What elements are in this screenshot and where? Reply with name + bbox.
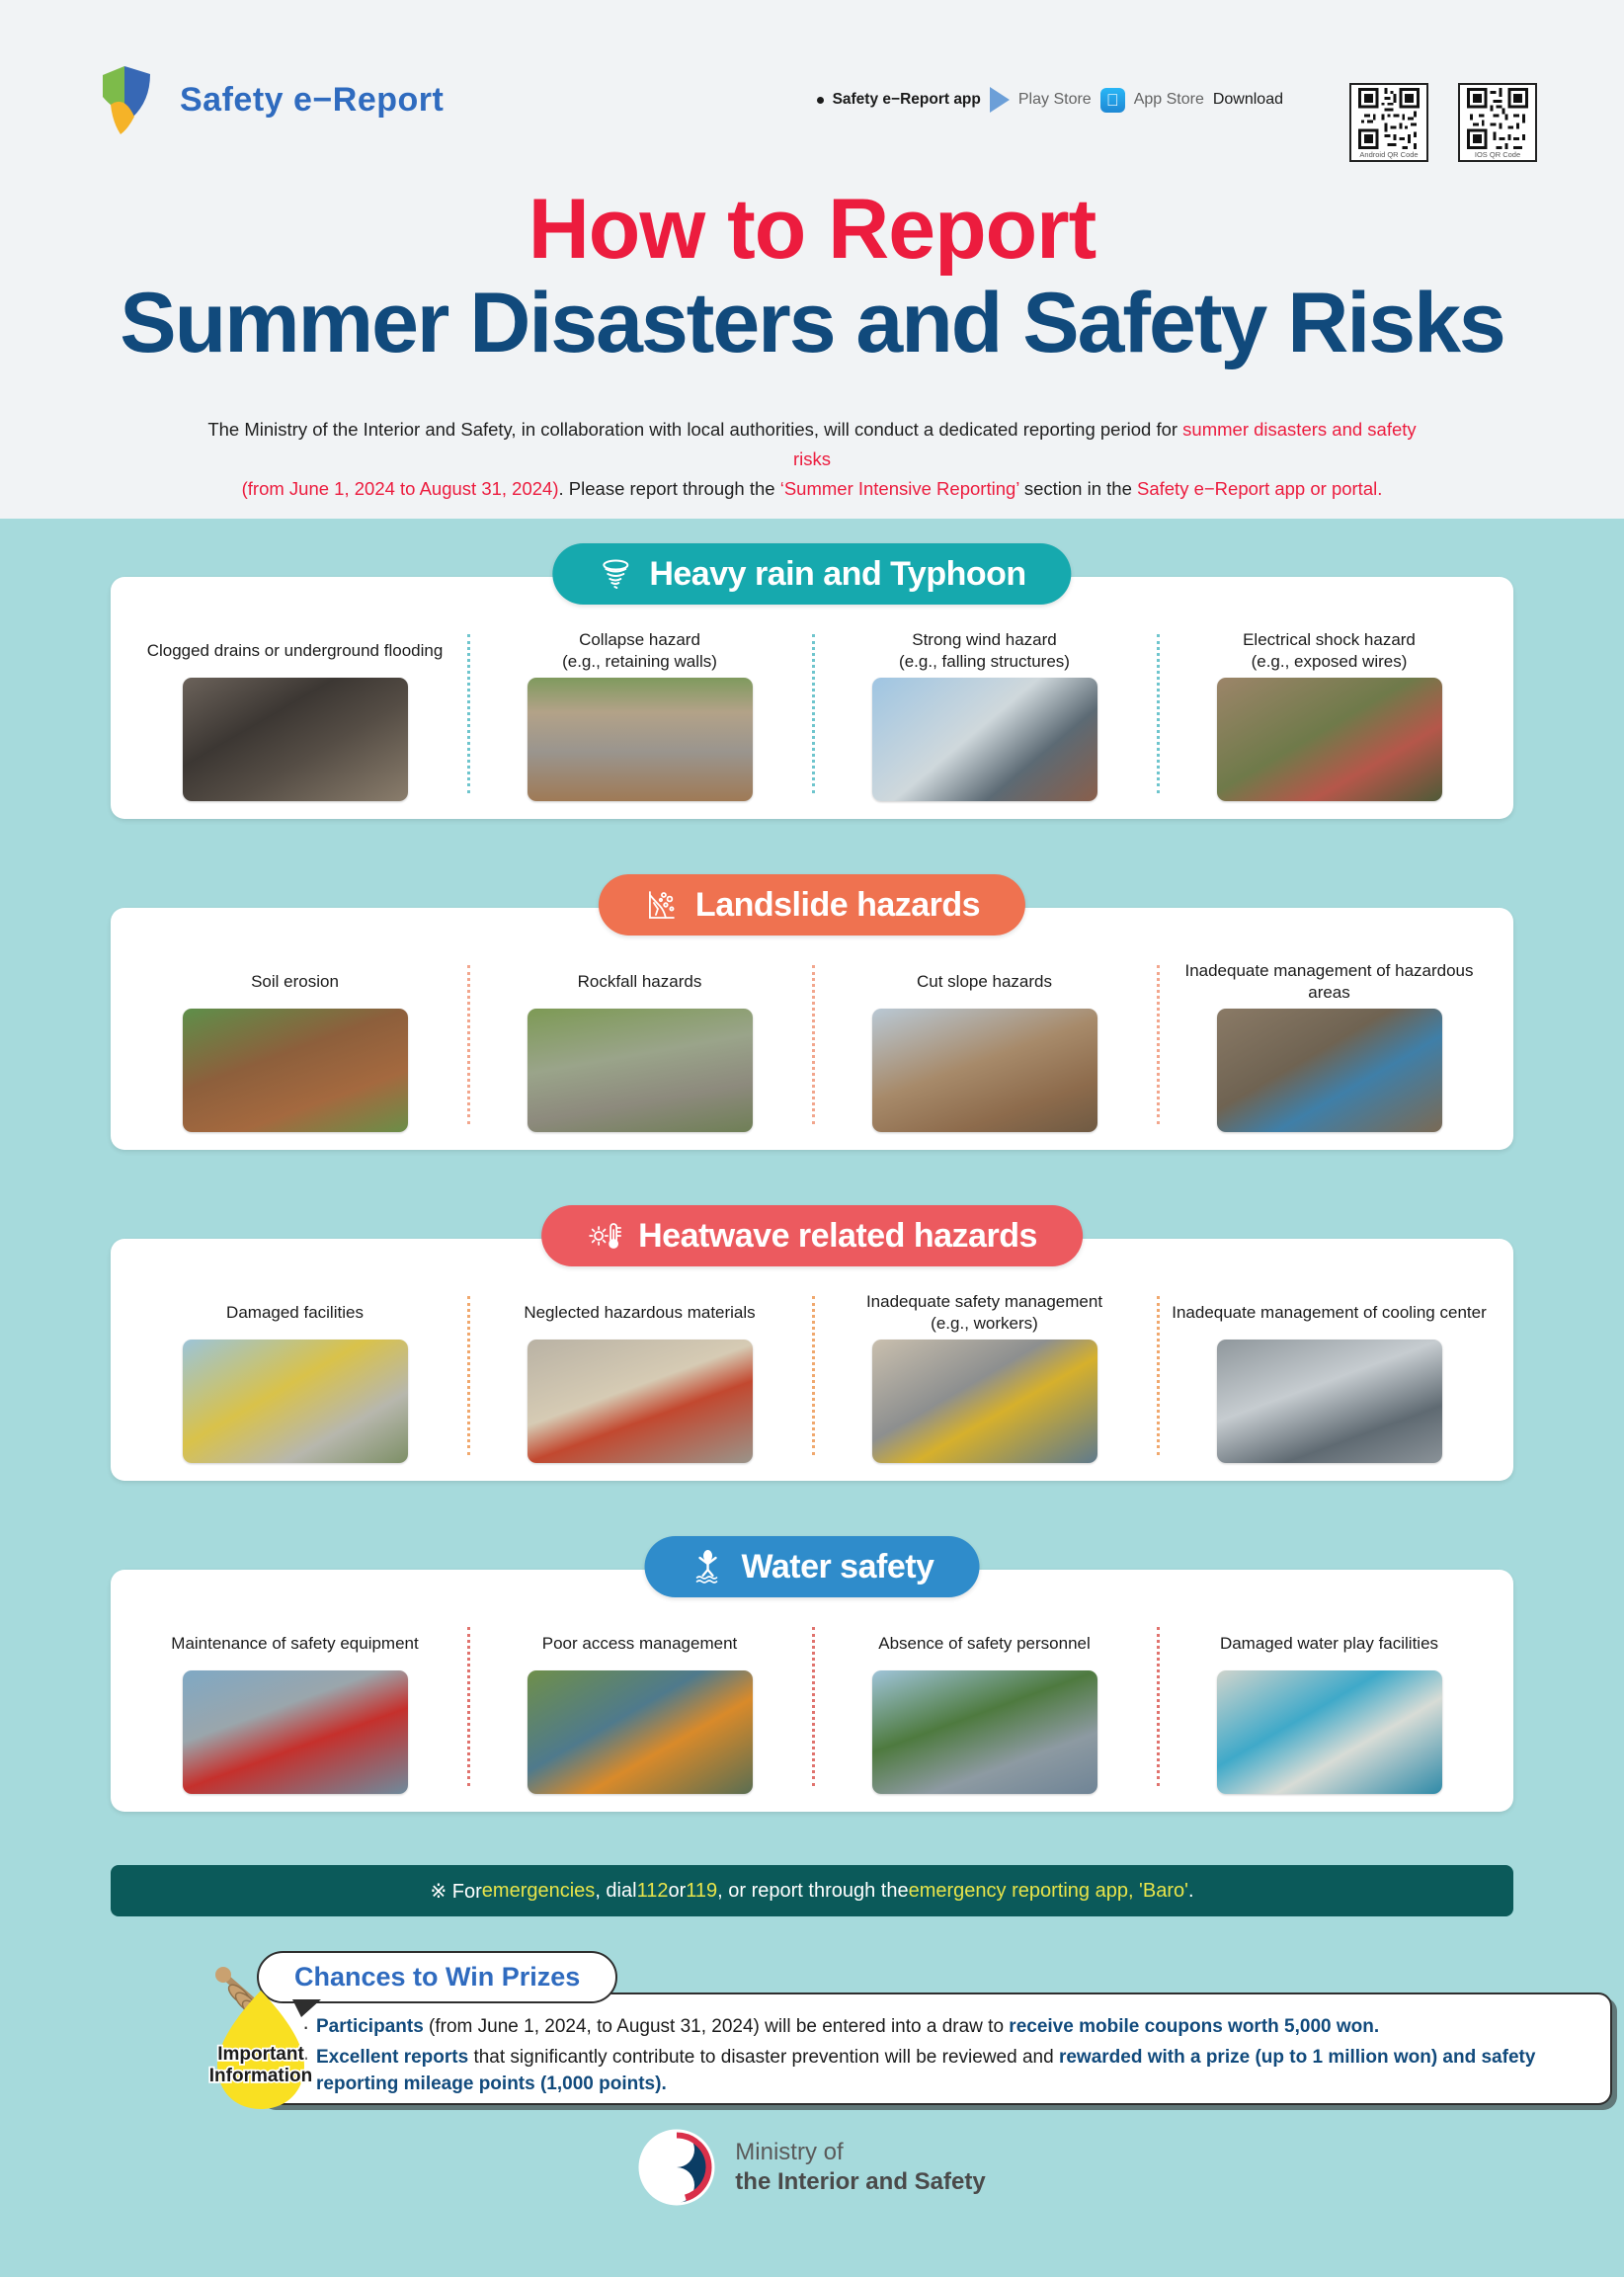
- prize-item: Excellent reports that significantly con…: [300, 2045, 1586, 2098]
- hazard-label: Poor access management: [532, 1621, 748, 1667]
- badge-line-1: Important: [217, 2044, 304, 2065]
- poster-root: Safety e−Report Safety e−Report app Play…: [0, 0, 1624, 2277]
- section-item-grid: Damaged facilities Neglected hazardous m…: [111, 1239, 1513, 1481]
- prizes-box: Participants (from June 1, 2024, to Augu…: [257, 1992, 1612, 2105]
- prizes-heading: Chances to Win Prizes: [294, 1962, 580, 1992]
- empty-lifeguard-post-photo: [872, 1670, 1097, 1794]
- section-card: Damaged facilities Neglected hazardous m…: [111, 1239, 1513, 1481]
- intro-highlight-3: ‘Summer Intensive Reporting’: [780, 478, 1019, 499]
- hazard-label: Inadequate safety management(e.g., worke…: [856, 1290, 1112, 1336]
- hazard-label: Inadequate management of cooling center: [1162, 1290, 1497, 1336]
- emergency-app-baro: emergency reporting app, 'Baro': [909, 1880, 1188, 1903]
- ios-qr-glyph: [1462, 88, 1533, 149]
- ios-qr-caption: IOS QR Code: [1475, 150, 1520, 159]
- body-background: Clogged drains or underground flooding C…: [0, 519, 1624, 2277]
- qr-code-group: Android QR Code: [1349, 83, 1537, 162]
- prize-bold-1: Participants: [316, 2016, 424, 2037]
- hazard-item[interactable]: Collapse hazard(e.g., retaining walls): [467, 628, 812, 801]
- ios-qr-code[interactable]: IOS QR Code: [1458, 83, 1537, 162]
- landslide-icon: [644, 887, 680, 923]
- hazard-label: Cut slope hazards: [907, 959, 1062, 1005]
- life-ring-box-photo: [183, 1670, 408, 1794]
- header: Safety e−Report Safety e−Report app Play…: [0, 0, 1624, 519]
- prize-bold-2: receive mobile coupons worth 5,000 won.: [1009, 2016, 1379, 2037]
- play-store-label[interactable]: Play Store: [1018, 91, 1092, 109]
- hazard-item[interactable]: Cut slope hazards: [812, 959, 1157, 1132]
- hazard-label: Clogged drains or underground flooding: [137, 628, 453, 674]
- hazard-label: Neglected hazardous materials: [514, 1290, 765, 1336]
- section-card: Maintenance of safety equipment Poor acc…: [111, 1570, 1513, 1812]
- android-qr-glyph: [1353, 88, 1424, 149]
- sun-thermometer-icon: [587, 1218, 622, 1254]
- section-title: Water safety: [742, 1548, 934, 1586]
- wind-damaged-roof-photo: [872, 678, 1097, 801]
- app-store-label[interactable]: App Store: [1134, 91, 1204, 109]
- cut-slope-photo: [872, 1009, 1097, 1132]
- intro-highlight-4: Safety e−Report app or portal.: [1137, 478, 1382, 499]
- hazard-item[interactable]: Inadequate safety management(e.g., worke…: [812, 1290, 1157, 1463]
- hazard-label: Soil erosion: [241, 959, 349, 1005]
- hazard-label: Damaged water play facilities: [1210, 1621, 1448, 1667]
- prize-text-1: (from June 1, 2024, to August 31, 2024) …: [424, 2016, 1010, 2037]
- hazard-item[interactable]: Electrical shock hazard(e.g., exposed wi…: [1157, 628, 1502, 801]
- section-pill-water-safety[interactable]: Water safety: [645, 1536, 980, 1597]
- exposed-wires-photo: [1217, 678, 1442, 801]
- section-title: Heatwave related hazards: [638, 1217, 1037, 1256]
- section-title: Heavy rain and Typhoon: [649, 555, 1025, 594]
- play-store-icon[interactable]: [990, 87, 1010, 113]
- intro-paragraph: The Ministry of the Interior and Safety,…: [188, 415, 1436, 504]
- section-item-grid: Soil erosion Rockfall hazards Cut slope …: [111, 908, 1513, 1150]
- hazard-label: Absence of safety personnel: [868, 1621, 1100, 1667]
- korea-government-logo-icon: [638, 2129, 715, 2206]
- hazard-label: Inadequate management of hazardous areas: [1157, 959, 1502, 1005]
- prize-text-2: that significantly contribute to disaste…: [468, 2047, 1059, 2068]
- worksite-thermometer-photo: [872, 1340, 1097, 1463]
- ministry-line-1: Ministry of: [735, 2139, 843, 2165]
- hazard-item[interactable]: Absence of safety personnel: [812, 1621, 1157, 1794]
- river-access-warning-photo: [528, 1670, 753, 1794]
- hazard-label: Maintenance of safety equipment: [161, 1621, 428, 1667]
- page-title-line1: How to Report: [0, 181, 1624, 279]
- emergency-number-119: 119: [686, 1880, 717, 1903]
- app-download-row: Safety e−Report app Play Store  App Sto…: [817, 87, 1283, 113]
- android-qr-code[interactable]: Android QR Code: [1349, 83, 1428, 162]
- neglected-chemical-containers-photo: [528, 1340, 753, 1463]
- hazard-item[interactable]: Neglected hazardous materials: [467, 1290, 812, 1463]
- emergency-number-112: 112: [637, 1880, 669, 1903]
- hazard-item[interactable]: Inadequate management of cooling center: [1157, 1290, 1502, 1463]
- intro-part-3: section in the: [1019, 478, 1137, 499]
- rockfall-photo: [528, 1009, 753, 1132]
- hazard-item[interactable]: Damaged facilities: [122, 1290, 467, 1463]
- hazard-item[interactable]: Inadequate management of hazardous areas: [1157, 959, 1502, 1132]
- hazard-item[interactable]: Strong wind hazard(e.g., falling structu…: [812, 628, 1157, 801]
- download-label: Download: [1213, 91, 1283, 109]
- emergency-text-4: .: [1188, 1880, 1194, 1903]
- hazard-item[interactable]: Damaged water play facilities: [1157, 1621, 1502, 1794]
- section-pill-landslide[interactable]: Landslide hazards: [599, 874, 1025, 935]
- hazard-label: Electrical shock hazard(e.g., exposed wi…: [1233, 628, 1425, 674]
- safety-shield-icon: [95, 61, 164, 138]
- cooling-center-photo: [1217, 1340, 1442, 1463]
- hazard-item[interactable]: Poor access management: [467, 1621, 812, 1794]
- section-item-grid: Clogged drains or underground flooding C…: [111, 577, 1513, 819]
- emergency-mark: ※ For: [430, 1879, 481, 1904]
- emergency-word-emergencies: emergencies: [482, 1880, 596, 1903]
- section-pill-heatwave[interactable]: Heatwave related hazards: [541, 1205, 1083, 1266]
- hazard-item[interactable]: Soil erosion: [122, 959, 467, 1132]
- badge-line-2: Information: [209, 2066, 313, 2086]
- clogged-drain-photo: [183, 678, 408, 801]
- section-item-grid: Maintenance of safety equipment Poor acc…: [111, 1570, 1513, 1812]
- hazardous-area-tarp-photo: [1217, 1009, 1442, 1132]
- ministry-footer: Ministry of the Interior and Safety: [0, 2129, 1624, 2206]
- emergency-text-3: , or report through the: [717, 1880, 908, 1903]
- collapsed-retaining-wall-photo: [528, 678, 753, 801]
- section-pill-heavy-rain[interactable]: Heavy rain and Typhoon: [552, 543, 1071, 605]
- intro-part-2: . Please report through the: [559, 478, 780, 499]
- prize-bold-3: Excellent reports: [316, 2047, 468, 2068]
- emergency-banner: ※ For emergencies, dial 112 or 119, or r…: [111, 1865, 1513, 1916]
- app-store-icon[interactable]: : [1100, 88, 1125, 113]
- section-title: Landslide hazards: [695, 886, 980, 925]
- prizes-section: Participants (from June 1, 2024, to Augu…: [111, 1951, 1513, 2109]
- prize-item: Participants (from June 1, 2024, to Augu…: [300, 2014, 1586, 2041]
- brand-name: Safety e−Report: [180, 81, 444, 120]
- emergency-text-1: , dial: [595, 1880, 636, 1903]
- important-information-badge: Important Information: [200, 1965, 328, 2113]
- swimmer-icon: [690, 1549, 726, 1585]
- ministry-line-2: the Interior and Safety: [735, 2168, 985, 2195]
- section-card: Soil erosion Rockfall hazards Cut slope …: [111, 908, 1513, 1150]
- hazard-label: Rockfall hazards: [568, 959, 712, 1005]
- section-card: Clogged drains or underground flooding C…: [111, 577, 1513, 819]
- damaged-shade-canopy-photo: [183, 1340, 408, 1463]
- bullet-dot-icon: [817, 97, 824, 104]
- damaged-water-slide-photo: [1217, 1670, 1442, 1794]
- tornado-icon: [598, 556, 633, 592]
- app-name-label: Safety e−Report app: [833, 91, 981, 109]
- ministry-name: Ministry of the Interior and Safety: [735, 2138, 985, 2197]
- emergency-text-2: or: [668, 1880, 686, 1903]
- hazard-label: Collapse hazard(e.g., retaining walls): [552, 628, 727, 674]
- android-qr-caption: Android QR Code: [1359, 150, 1418, 159]
- hazard-label: Strong wind hazard(e.g., falling structu…: [889, 628, 1080, 674]
- hazard-item[interactable]: Maintenance of safety equipment: [122, 1621, 467, 1794]
- hazard-label: Damaged facilities: [216, 1290, 373, 1336]
- hazard-item[interactable]: Rockfall hazards: [467, 959, 812, 1132]
- intro-highlight-2: (from June 1, 2024 to August 31, 2024): [242, 478, 559, 499]
- hazard-item[interactable]: Clogged drains or underground flooding: [122, 628, 467, 801]
- brand-logo: Safety e−Report: [95, 61, 444, 138]
- soil-erosion-photo: [183, 1009, 408, 1132]
- page-title-line2: Summer Disasters and Safety Risks: [0, 275, 1624, 372]
- intro-part-1: The Ministry of the Interior and Safety,…: [207, 419, 1182, 440]
